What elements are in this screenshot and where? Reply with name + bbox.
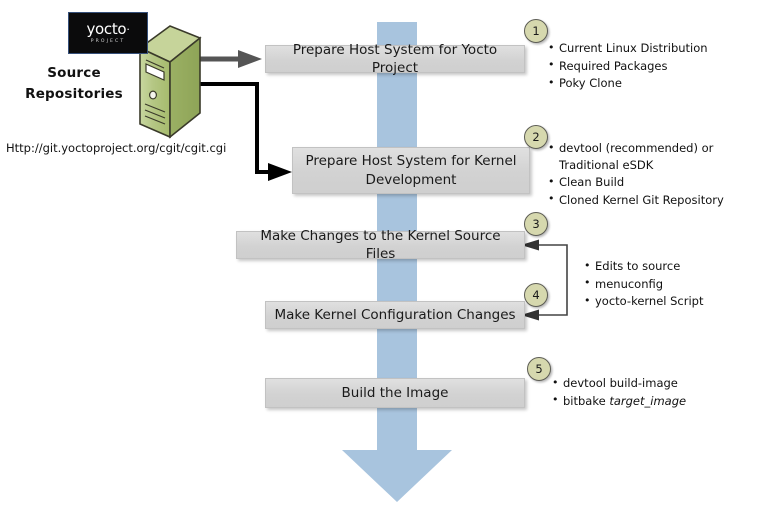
logo-dot: · [126, 23, 129, 36]
bullet-list-steps-3-4: Edits to source menuconfig yocto-kernel … [584, 258, 704, 311]
list-item-text: bitbake [563, 394, 609, 408]
process-box-step-4[interactable]: Make Kernel Configuration Changes [265, 301, 525, 329]
process-box-step-1[interactable]: Prepare Host System for Yocto Project [265, 45, 525, 73]
list-item: devtool build-image [552, 375, 686, 392]
list-item-text: devtool (recommended) or [559, 141, 713, 155]
step-badge-3: 3 [524, 212, 548, 236]
list-item: bitbake target_image [552, 393, 686, 410]
process-box-step-2[interactable]: Prepare Host System for Kernel Developme… [292, 147, 530, 194]
server-tower-icon [140, 26, 200, 137]
source-repositories-label: Source Repositories [10, 63, 138, 105]
repository-url: Http://git.yoctoproject.org/cgit/cgit.cg… [6, 141, 226, 155]
list-item: Clean Build [548, 174, 724, 191]
step-badge-2: 2 [524, 125, 548, 149]
list-item: devtool (recommended) or Traditional eSD… [548, 140, 724, 173]
list-item-continuation: Traditional eSDK [559, 157, 724, 174]
list-item: Cloned Kernel Git Repository [548, 192, 724, 209]
step-badge-4: 4 [524, 283, 548, 307]
list-item: menuconfig [584, 276, 704, 293]
bullet-list-step-1: Current Linux Distribution Required Pack… [548, 40, 708, 93]
process-box-step-5[interactable]: Build the Image [265, 378, 525, 408]
list-item: Current Linux Distribution [548, 40, 708, 57]
source-label-line1: Source [10, 63, 138, 84]
arrow-server-to-step1 [196, 50, 262, 68]
yocto-project-logo: yocto· PROJECT [68, 12, 148, 54]
step-badge-5: 5 [527, 357, 551, 381]
list-item: yocto-kernel Script [584, 293, 704, 310]
list-item: Edits to source [584, 258, 704, 275]
list-item: Poky Clone [548, 75, 708, 92]
bullet-list-step-5: devtool build-image bitbake target_image [552, 375, 686, 410]
bullet-list-step-2: devtool (recommended) or Traditional eSD… [548, 140, 724, 209]
list-item: Required Packages [548, 58, 708, 75]
arrow-server-to-step2 [196, 84, 292, 181]
logo-subtitle: PROJECT [91, 40, 126, 45]
bracket-steps-3-4 [521, 240, 567, 321]
source-label-line2: Repositories [10, 84, 138, 105]
diagram-canvas: yocto· PROJECT Source Repositories Http:… [0, 0, 769, 517]
step-badge-1: 1 [524, 19, 548, 43]
process-box-step-3[interactable]: Make Changes to the Kernel Source Files [236, 231, 525, 259]
logo-wordmark: yocto· [86, 22, 129, 37]
list-item-emphasis: target_image [609, 394, 686, 408]
